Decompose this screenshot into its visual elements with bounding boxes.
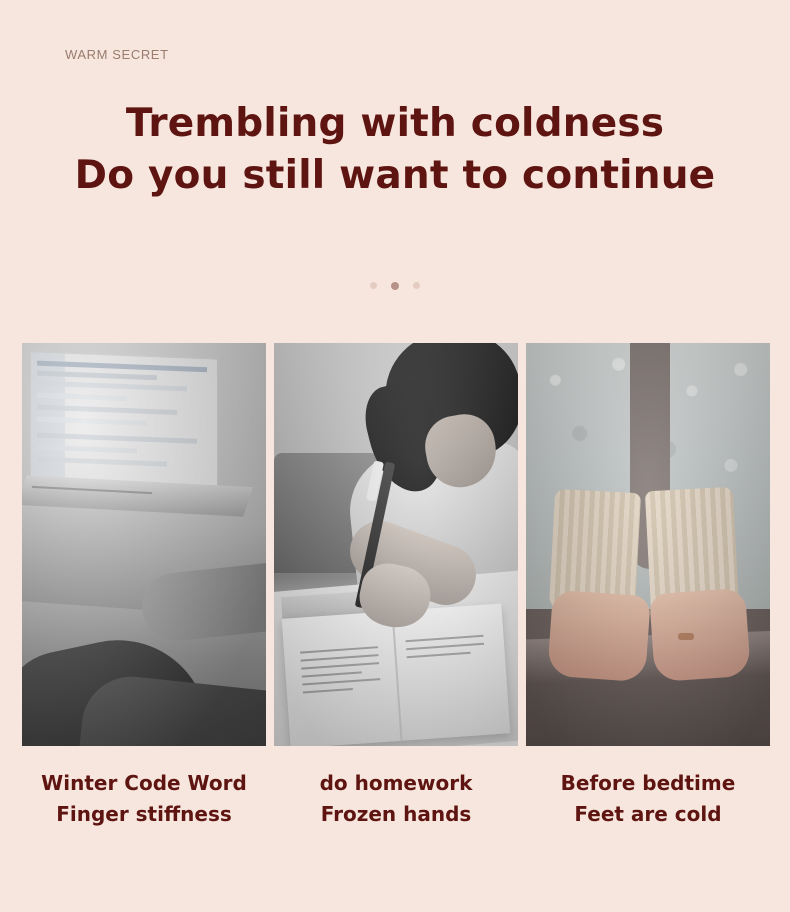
- carousel-dot-3[interactable]: [413, 282, 420, 289]
- photo-vignette: [274, 343, 518, 746]
- gallery-caption-1: Winter Code Word Finger stiffness: [22, 768, 266, 830]
- gallery-caption-3: Before bedtime Feet are cold: [526, 768, 770, 830]
- photo-gallery: Winter Code Word Finger stiffness: [22, 343, 770, 830]
- headline-line-2: Do you still want to continue: [0, 150, 790, 202]
- page-title: Trembling with coldness Do you still wan…: [0, 98, 790, 202]
- laptop-on-lap-photo: [22, 343, 266, 746]
- gallery-item-3[interactable]: Before bedtime Feet are cold: [526, 343, 770, 830]
- gallery-caption-2: do homework Frozen hands: [274, 768, 518, 830]
- caption-line-1: Before bedtime: [561, 771, 736, 795]
- carousel-dot-1[interactable]: [370, 282, 377, 289]
- caption-line-2: Finger stiffness: [22, 799, 266, 830]
- photo-vignette: [526, 343, 770, 746]
- hands-with-knit-cuffs-photo: [526, 343, 770, 746]
- photo-vignette: [22, 343, 266, 746]
- caption-line-1: Winter Code Word: [41, 771, 247, 795]
- carousel-dot-2-active[interactable]: [391, 282, 399, 290]
- eyebrow-label: WARM SECRET: [65, 47, 169, 62]
- caption-line-2: Frozen hands: [274, 799, 518, 830]
- caption-line-1: do homework: [320, 771, 473, 795]
- writing-homework-photo: [274, 343, 518, 746]
- caption-line-2: Feet are cold: [526, 799, 770, 830]
- promo-page: WARM SECRET Trembling with coldness Do y…: [0, 0, 790, 912]
- headline-line-1: Trembling with coldness: [0, 98, 790, 150]
- carousel-dots[interactable]: [0, 277, 790, 295]
- gallery-item-1[interactable]: Winter Code Word Finger stiffness: [22, 343, 266, 830]
- gallery-item-2[interactable]: do homework Frozen hands: [274, 343, 518, 830]
